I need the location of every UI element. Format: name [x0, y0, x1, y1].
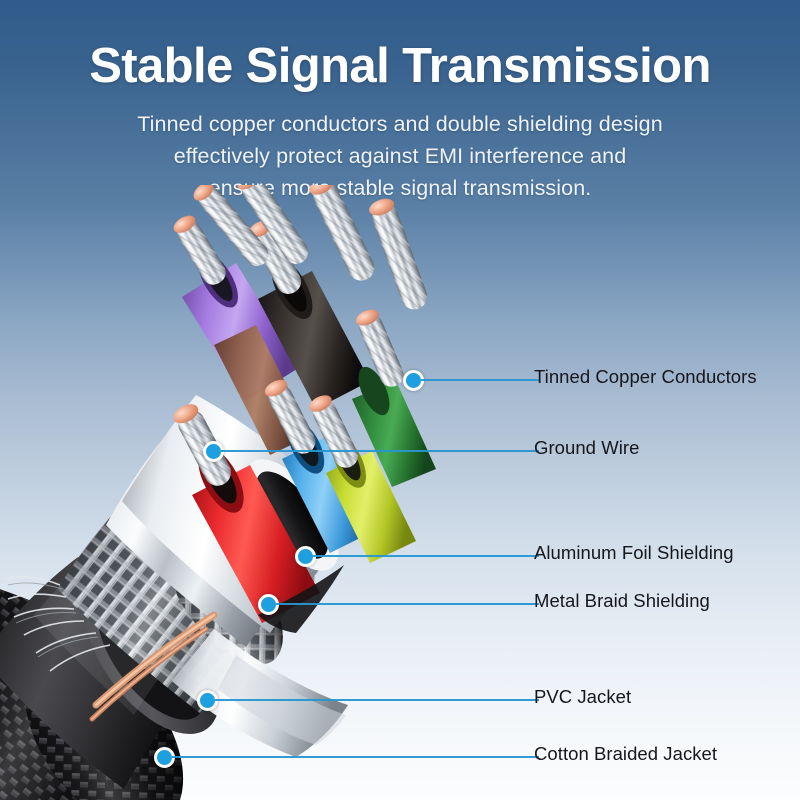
subtitle-line-2: effectively protect against EMI interfer… [0, 140, 800, 172]
callout-text-metal-braid-shielding: Metal Braid Shielding [534, 588, 710, 614]
subtitle-line-1: Tinned copper conductors and double shie… [0, 108, 800, 140]
callout-text-tinned-copper-conductors: Tinned Copper Conductors [534, 364, 757, 390]
callout-line-aluminum-foil-shielding [313, 555, 539, 557]
page-title: Stable Signal Transmission [0, 0, 800, 96]
callout-line-pvc-jacket [215, 699, 539, 701]
callout-text-cotton-braided-jacket: Cotton Braided Jacket [534, 741, 717, 767]
callout-text-pvc-jacket: PVC Jacket [534, 684, 631, 710]
callout-text-aluminum-foil-shielding: Aluminum Foil Shielding [534, 540, 734, 566]
strand-bundle-top-right-1 [306, 185, 378, 285]
callout-line-ground-wire [221, 450, 539, 452]
callout-line-tinned-copper-conductors [421, 379, 539, 381]
callout-text-ground-wire: Ground Wire [534, 435, 639, 461]
callout-line-metal-braid-shielding [276, 603, 539, 605]
header: Stable Signal Transmission Tinned copper… [0, 0, 800, 204]
strand-bundle-top-right-2 [367, 196, 431, 313]
cable-cutaway-illustration [0, 185, 520, 800]
callout-line-cotton-braided-jacket [172, 756, 539, 758]
infographic-canvas: Stable Signal Transmission Tinned copper… [0, 0, 800, 800]
